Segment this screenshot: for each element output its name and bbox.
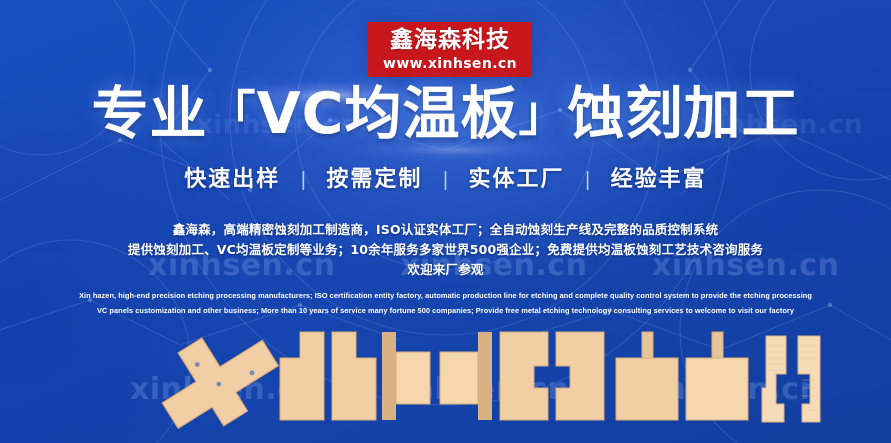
description-english: Xin hazen, high-end precision etching pr… (0, 288, 891, 318)
product-stepped-plate-2 (556, 332, 604, 420)
description-en-line-2: VC panels customization and other busine… (0, 303, 891, 318)
feature-separator: | (285, 169, 322, 191)
feature-item-custom: 按需定制 (326, 167, 422, 192)
description-cn-line-2: 提供蚀刻加工、VC均温板定制等业务；10余年服务多家世界500强企业；免费提供均… (0, 240, 891, 260)
description-cn-line-3: 欢迎来厂参观 (0, 260, 891, 280)
product-tab-plate-2 (440, 332, 492, 420)
headline-suffix: 蚀刻加工 (567, 81, 799, 147)
headline-container: 专业「VC均温板」蚀刻加工 (0, 83, 891, 145)
product-slim-etched-plate-2 (798, 336, 820, 422)
product-notched-plate-1 (280, 332, 324, 420)
headline-prefix: 专业 (92, 81, 208, 147)
product-tab-plate-1 (382, 332, 430, 420)
company-logo: 鑫海森科技 www.xinhsen.cn (368, 22, 532, 77)
description-en-line-1: Xin hazen, high-end precision etching pr… (0, 288, 891, 303)
product-angled-cross-plate (144, 330, 290, 443)
logo-website: www.xinhsen.cn (383, 57, 517, 71)
logo-company-name: 鑫海森科技 (390, 29, 510, 52)
product-paddle-plate-2 (686, 332, 748, 420)
headline-emphasis: VC均温板 (257, 81, 519, 147)
product-shapes (0, 330, 891, 443)
feature-item-experience: 经验丰富 (611, 167, 707, 192)
product-notched-plate-2 (332, 332, 376, 420)
product-paddle-plate-1 (616, 332, 678, 420)
page-title: 专业「VC均温板」蚀刻加工 (92, 83, 800, 145)
feature-item-factory: 实体工厂 (469, 167, 565, 192)
feature-separator: | (427, 169, 464, 191)
product-stepped-plate-1 (500, 332, 548, 420)
headline-bracket-open: 「 (208, 86, 257, 142)
headline-bracket-close: 」 (518, 86, 567, 142)
feature-list: 快速出样 | 按需定制 | 实体工厂 | 经验丰富 (0, 161, 891, 193)
promo-banner: xinhsen.cn xinhsen.cn xinhsen.cn xinhsen… (0, 0, 891, 443)
description-chinese: 鑫海森，高端精密蚀刻加工制造商，ISO认证实体工厂；全自动蚀刻生产线及完整的品质… (0, 220, 891, 280)
feature-separator: | (569, 169, 606, 191)
feature-item-fast-sample: 快速出样 (184, 167, 280, 192)
product-slim-etched-plate-1 (762, 336, 786, 422)
description-cn-line-1: 鑫海森，高端精密蚀刻加工制造商，ISO认证实体工厂；全自动蚀刻生产线及完整的品质… (0, 220, 891, 240)
product-gallery (0, 330, 891, 443)
